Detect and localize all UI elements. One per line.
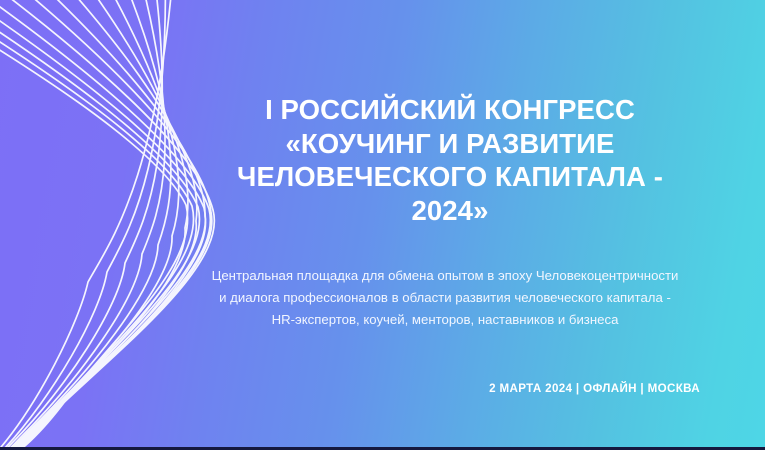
event-subtitle: Центральная площадка для обмена опытом в… xyxy=(180,265,710,331)
subtitle-line-2: и диалога профессионалов в области разви… xyxy=(180,287,710,309)
subtitle-line-1: Центральная площадка для обмена опытом в… xyxy=(180,265,710,287)
banner-content: I РОССИЙСКИЙ КОНГРЕСС «КОУЧИНГ И РАЗВИТИ… xyxy=(0,0,765,450)
event-date-location: 2 МАРТА 2024 | ОФЛАЙН | МОСКВА xyxy=(380,382,765,395)
title-line-4: 2024» xyxy=(205,194,695,228)
event-title: I РОССИЙСКИЙ КОНГРЕСС «КОУЧИНГ И РАЗВИТИ… xyxy=(205,93,695,227)
title-line-2: «КОУЧИНГ И РАЗВИТИЕ xyxy=(205,127,695,161)
title-line-3: ЧЕЛОВЕЧЕСКОГО КАПИТАЛА - xyxy=(205,160,695,194)
event-banner: I РОССИЙСКИЙ КОНГРЕСС «КОУЧИНГ И РАЗВИТИ… xyxy=(0,0,765,450)
subtitle-line-3: HR-экспертов, коучей, менторов, наставни… xyxy=(180,309,710,331)
title-line-1: I РОССИЙСКИЙ КОНГРЕСС xyxy=(205,93,695,127)
